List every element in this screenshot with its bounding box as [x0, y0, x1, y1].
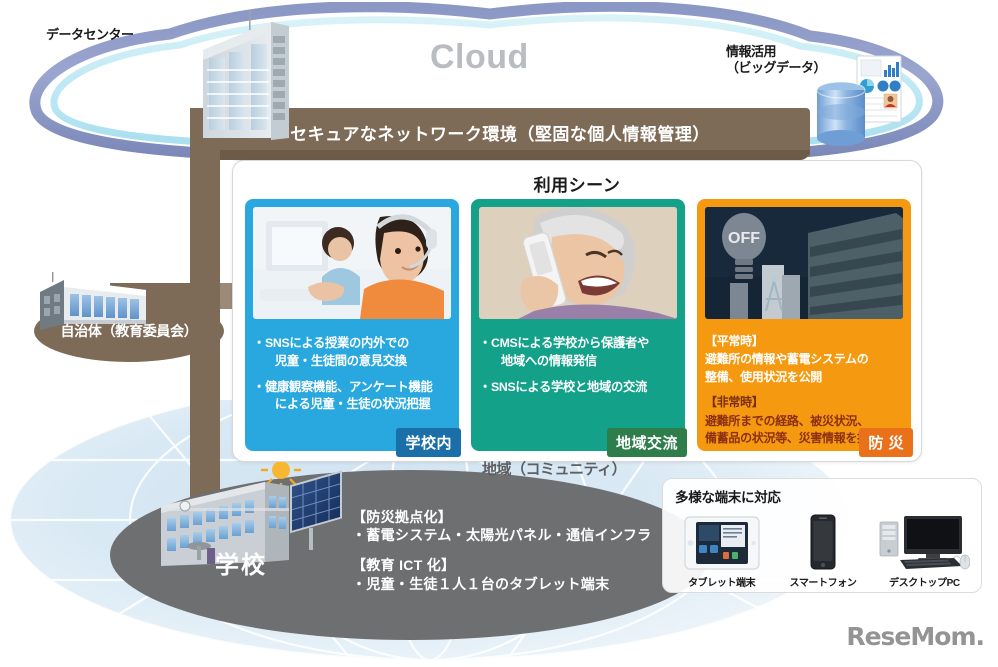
cloud-title: Cloud	[430, 38, 529, 77]
bigdata-label: 情報活用 （ビッグデータ）	[726, 44, 826, 77]
scene-bullet: ・健康観察機能、アンケート機能 による児童・生徒の状況把握	[253, 379, 451, 415]
school-note-body: ・児童・生徒１人１台のタブレット端末	[352, 575, 651, 593]
scene-card-school-internal[interactable]: 学校内 ・SNSによる授業の内外での 児童・生徒間の意見交換 ・健康観察機能、ア…	[245, 199, 459, 451]
classroom-photo	[253, 207, 451, 319]
school-note-group: 【防災拠点化】 ・蓄電システム・太陽光パネル・通信インフラ	[352, 508, 651, 544]
normal-body: 避難所の情報や蓄電システムの 整備、使用状況を公開	[705, 351, 903, 386]
scene-bullet: ・SNSによる授業の内外での 児童・生徒間の意見交換	[253, 335, 451, 371]
infographic-canvas: Cloud データセンター 情報活用 （ビッグデータ）	[0, 0, 998, 667]
device-label: デスクトップPC	[889, 574, 960, 589]
watermark-text: ReseMom.	[846, 622, 984, 651]
scene-card-community-exchange[interactable]: 地域交流 ・CMSによる学校から保護者や 地域への情報発信 ・SNSによる学校と…	[471, 199, 685, 451]
datacenter-label: データセンター	[46, 27, 134, 43]
scene-bullet: ・SNSによる学校と地域の交流	[479, 379, 677, 397]
scene-card-body-school-internal: ・SNSによる授業の内外での 児童・生徒間の意見交換 ・健康観察機能、アンケート…	[253, 335, 451, 422]
scene-cards-row: 学校内 ・SNSによる授業の内外での 児童・生徒間の意見交換 ・健康観察機能、ア…	[245, 199, 911, 451]
emergency-heading: 【非常時】	[705, 394, 903, 411]
device-tablet[interactable]: タブレット端末	[671, 503, 772, 589]
scene-card-tag-disaster-prevention: 防 災	[859, 428, 913, 457]
scene-card-body-community-exchange: ・CMSによる学校から保護者や 地域への情報発信 ・SNSによる学校と地域の交流	[479, 335, 677, 404]
tablet-icon	[684, 514, 760, 570]
senior-phone-photo	[479, 207, 677, 319]
smartphone-icon	[808, 514, 838, 570]
school-note-body: ・蓄電システム・太陽光パネル・通信インフラ	[352, 526, 651, 544]
device-label: タブレット端末	[688, 574, 755, 589]
scene-bullet: ・CMSによる学校から保護者や 地域への情報発信	[479, 335, 677, 371]
devices-panel: 多様な端末に対応	[662, 478, 982, 593]
desktop-pc-icon	[878, 514, 970, 570]
device-smartphone[interactable]: スマートフォン	[772, 503, 873, 589]
device-label: スマートフォン	[790, 574, 857, 589]
school-label: 学校	[215, 545, 267, 580]
municipality-label: 自治体（教育委員会）	[34, 300, 224, 362]
school-notes: 【防災拠点化】 ・蓄電システム・太陽光パネル・通信インフラ 【教育 ICT 化】…	[352, 508, 651, 593]
devices-row: タブレット端末 スマートフォン	[671, 503, 975, 589]
school-note-heading: 【防災拠点化】	[352, 508, 651, 526]
blackout-illustration: OFF	[705, 207, 903, 319]
network-banner-text: セキュアなネットワーク環境（堅固な個人情報管理）	[190, 108, 810, 156]
scene-card-disaster-prevention[interactable]: OFF	[697, 199, 911, 451]
usage-scenes-title: 利用シーン	[233, 171, 921, 196]
school-note-group: 【教育 ICT 化】 ・児童・生徒１人１台のタブレット端末	[352, 556, 651, 592]
community-label: 地域（コミュニティ）	[482, 458, 626, 479]
svg-text:OFF: OFF	[728, 230, 760, 247]
normal-heading: 【平常時】	[705, 333, 903, 350]
scene-card-tag-community-exchange: 地域交流	[607, 428, 687, 457]
device-desktop-pc[interactable]: デスクトップPC	[874, 503, 975, 589]
school-note-heading: 【教育 ICT 化】	[352, 556, 651, 574]
resemom-watermark: ReseMom.	[846, 622, 984, 651]
usage-scenes-panel: 利用シーン	[232, 160, 922, 462]
scene-card-tag-school-internal: 学校内	[396, 428, 461, 457]
